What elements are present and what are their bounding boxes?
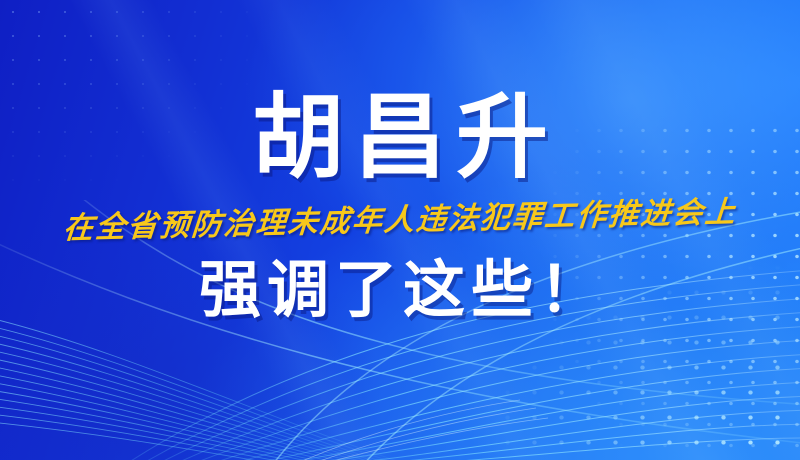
banner-text-block: 胡昌升 在全省预防治理未成年人违法犯罪工作推进会上 强调了这些！: [0, 0, 800, 460]
news-banner-poster: 胡昌升 在全省预防治理未成年人违法犯罪工作推进会上 强调了这些！: [0, 0, 800, 460]
page-title: 胡昌升: [242, 92, 558, 184]
banner-tagline: 强调了这些！: [193, 260, 607, 322]
banner-subtitle: 在全省预防治理未成年人违法犯罪工作推进会上: [62, 198, 738, 244]
